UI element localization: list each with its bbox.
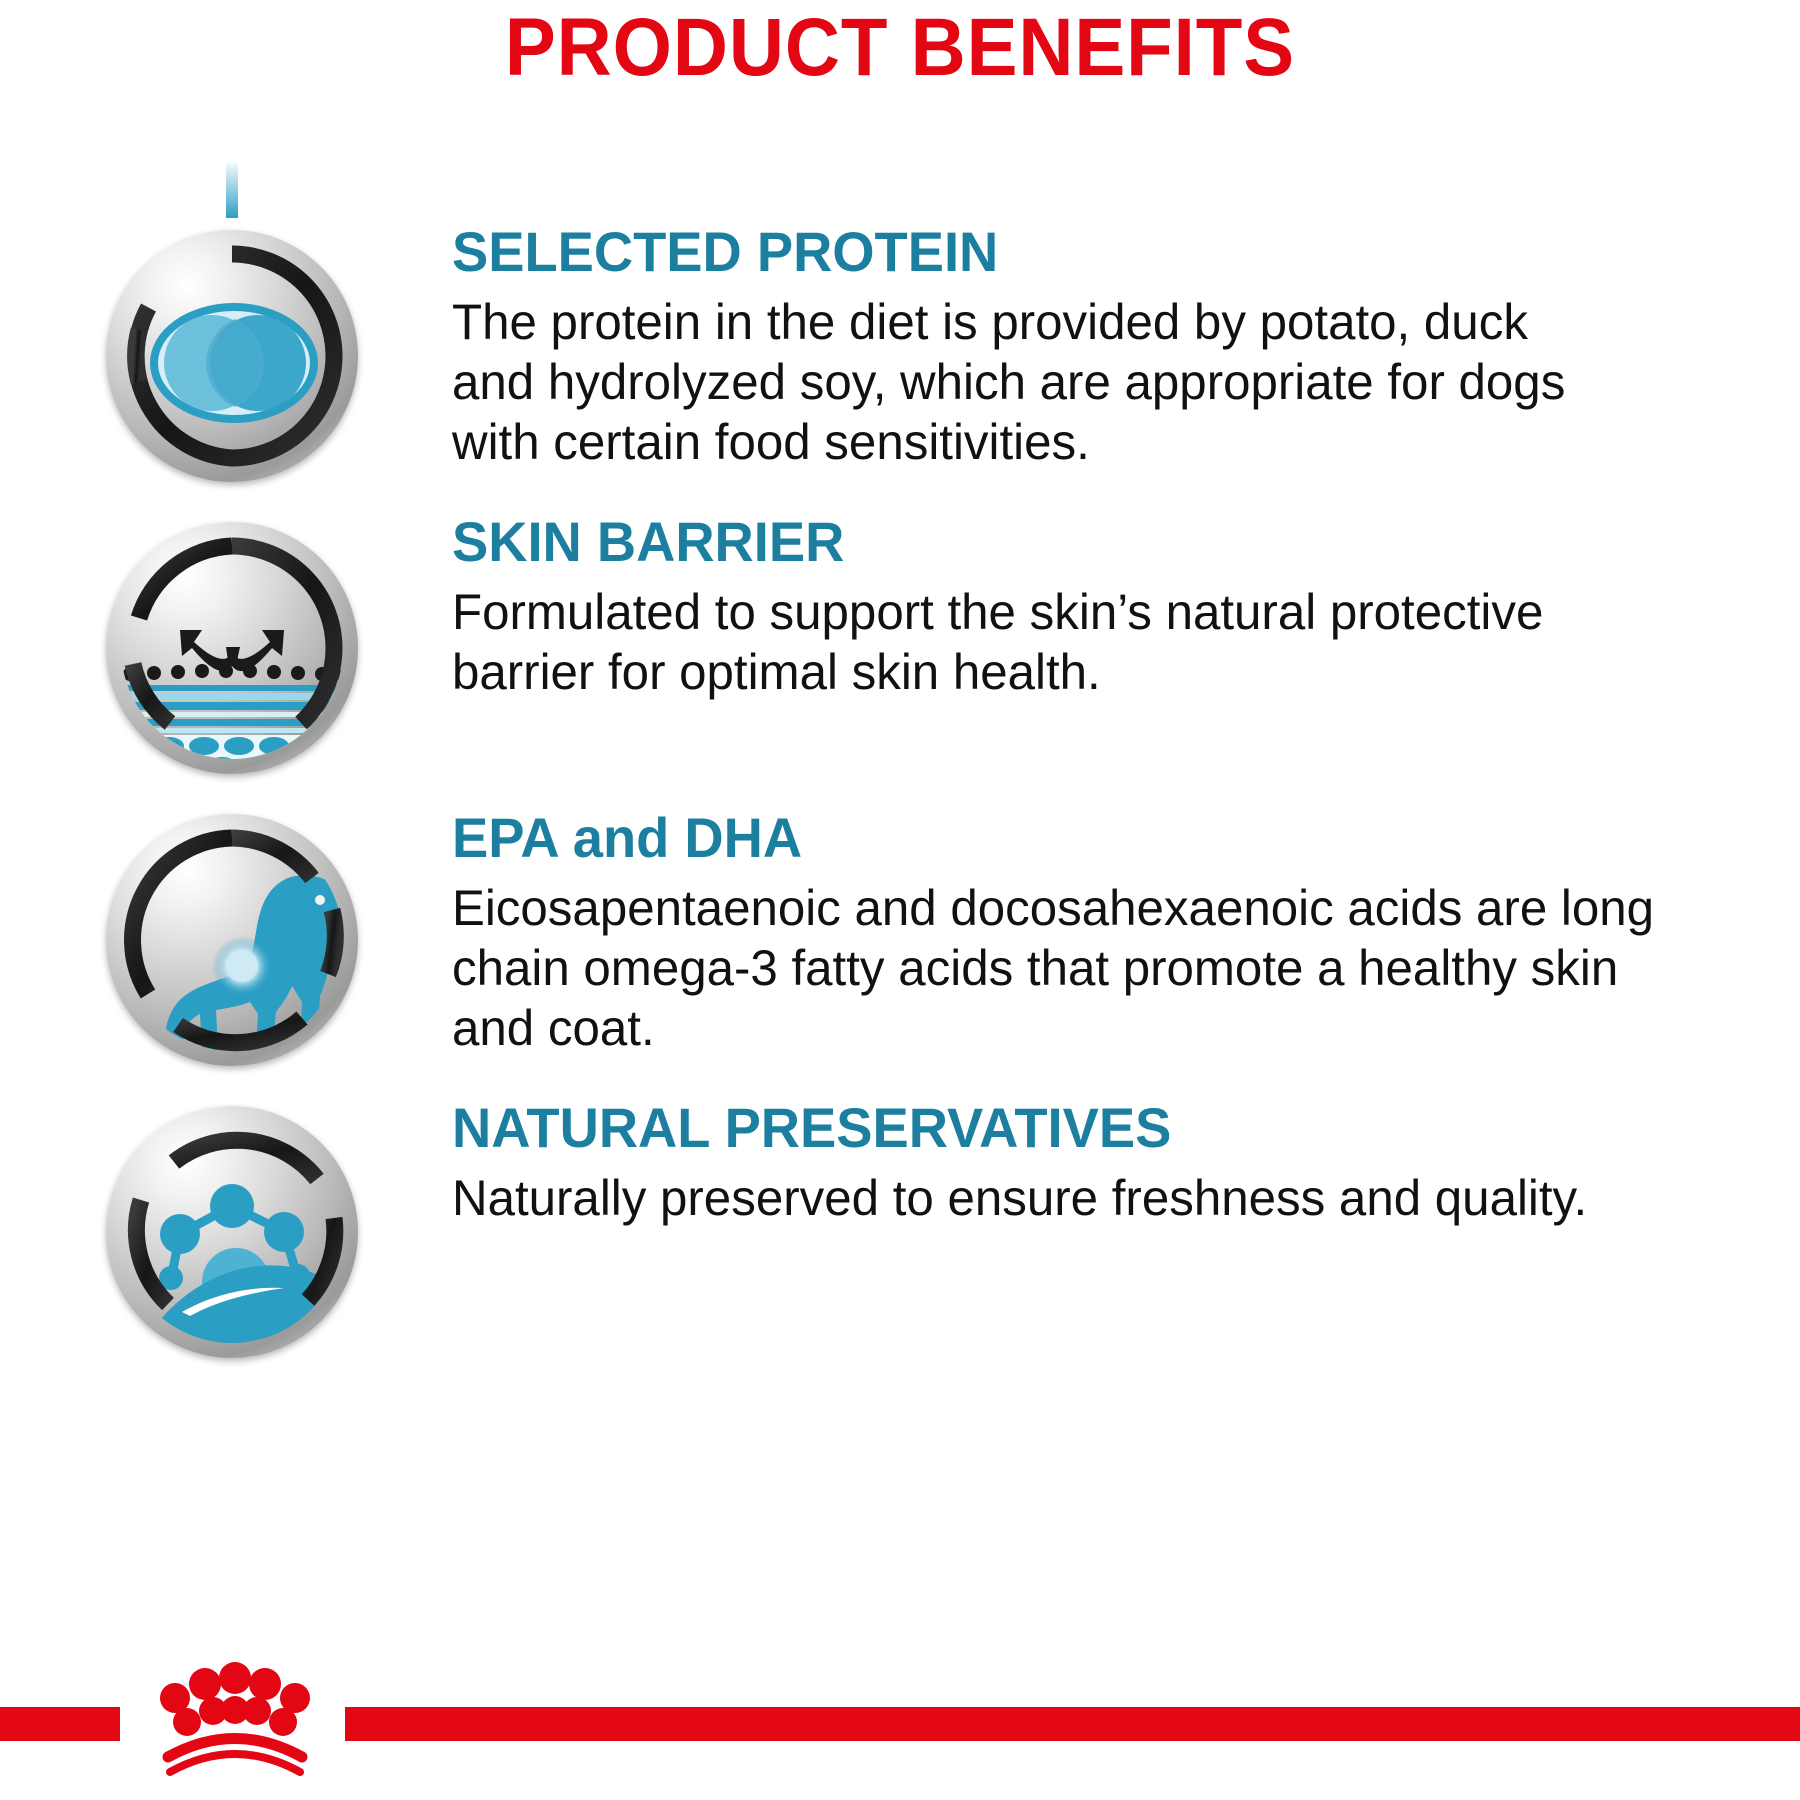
benefit-body: The protein in the diet is provided by p… xyxy=(452,292,1800,472)
benefit-body: Naturally preserved to ensure freshness … xyxy=(452,1168,1800,1228)
footer-bar-left xyxy=(0,1707,120,1741)
benefit-text-epa-dha: EPA and DHA Eicosapentaenoic and docosah… xyxy=(452,808,1800,1058)
royal-canin-crown-logo xyxy=(120,1654,350,1784)
skin-barrier-icon xyxy=(106,522,358,774)
benefit-text-natural-preservatives: NATURAL PRESERVATIVES Naturally preserve… xyxy=(452,1098,1800,1228)
benefit-body: Eicosapentaenoic and docosahexaenoic aci… xyxy=(452,878,1800,1058)
benefit-text-skin-barrier: SKIN BARRIER Formulated to support the s… xyxy=(452,512,1800,702)
benefit-heading: EPA and DHA xyxy=(452,808,1800,868)
natural-preservatives-icon xyxy=(106,1106,358,1358)
benefit-body: Formulated to support the skin’s natural… xyxy=(452,582,1800,702)
benefit-text-selected-protein: SELECTED PROTEIN The protein in the diet… xyxy=(452,222,1800,472)
benefit-heading: NATURAL PRESERVATIVES xyxy=(452,1098,1800,1158)
product-benefits-page: PRODUCT BENEFITS SELECTED xyxy=(0,0,1800,1800)
benefit-heading: SKIN BARRIER xyxy=(452,512,1800,572)
selected-protein-icon xyxy=(106,230,358,482)
footer-bar-right xyxy=(345,1707,1800,1741)
benefit-heading: SELECTED PROTEIN xyxy=(452,222,1800,282)
page-title: PRODUCT BENEFITS xyxy=(63,2,1737,94)
footer-brand-bar xyxy=(0,1600,1800,1800)
epa-dha-dog-icon xyxy=(106,814,358,1066)
